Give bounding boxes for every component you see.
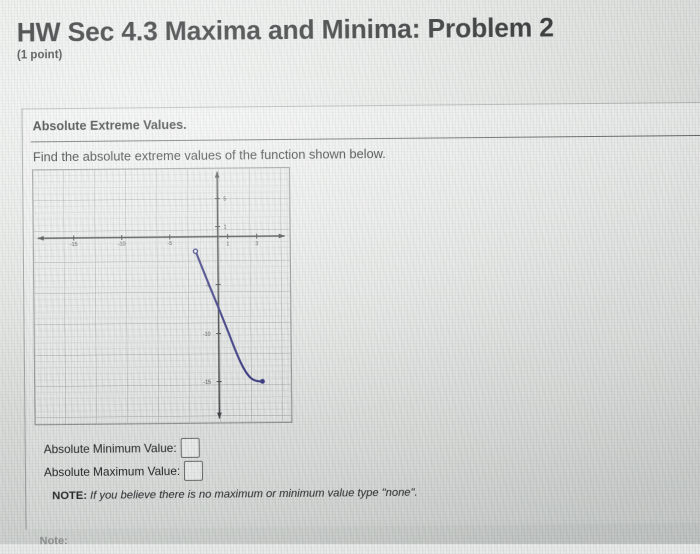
absolute-maximum-label: Absolute Maximum Value: (44, 463, 180, 478)
problem-heading: Absolute Extreme Values. (33, 118, 187, 133)
problem-prompt: Find the absolute extreme values of the … (33, 146, 386, 164)
note-label: NOTE: (52, 490, 87, 502)
page-title: HW Sec 4.3 Maxima and Minima: Problem 2 (17, 12, 657, 46)
answer-row-maximum: Absolute Maximum Value: (44, 456, 464, 483)
screen-content: HW Sec 4.3 Maxima and Minima: Problem 2 … (0, 0, 700, 547)
open-endpoint-marker (193, 249, 197, 253)
x-tick-label: 3 (255, 241, 258, 247)
x-tick-label: 1 (226, 241, 229, 247)
function-graph: -15 -10 -5 1 3 5 1 -5 -10 -15 (32, 167, 292, 425)
x-tick-label: -10 (118, 241, 126, 247)
absolute-minimum-input[interactable] (181, 437, 200, 457)
absolute-minimum-label: Absolute Minimum Value: (44, 441, 177, 456)
x-tick-label: -15 (70, 242, 78, 248)
graph-svg: -15 -10 -5 1 3 5 1 -5 -10 -15 (32, 167, 292, 425)
y-tick-label: -10 (203, 332, 211, 338)
graph-grid (33, 168, 291, 424)
x-tick-label: -5 (167, 241, 172, 247)
heading-divider (31, 135, 700, 142)
y-tick-label: 1 (224, 225, 227, 231)
absolute-maximum-input[interactable] (184, 460, 203, 480)
note-body: If you believe there is no maximum or mi… (87, 487, 418, 502)
cut-off-footer-text: Note: (40, 535, 68, 544)
title-block: HW Sec 4.3 Maxima and Minima: Problem 2 … (17, 12, 657, 61)
problem-card: Absolute Extreme Values. Find the absolu… (21, 102, 700, 530)
y-tick-label: -15 (203, 380, 211, 386)
note-text: NOTE: If you believe there is no maximum… (52, 487, 418, 503)
closed-endpoint-marker (260, 379, 265, 384)
answer-fields: Absolute Minimum Value: Absolute Maximum… (44, 433, 464, 483)
y-tick-label: 5 (223, 197, 226, 203)
